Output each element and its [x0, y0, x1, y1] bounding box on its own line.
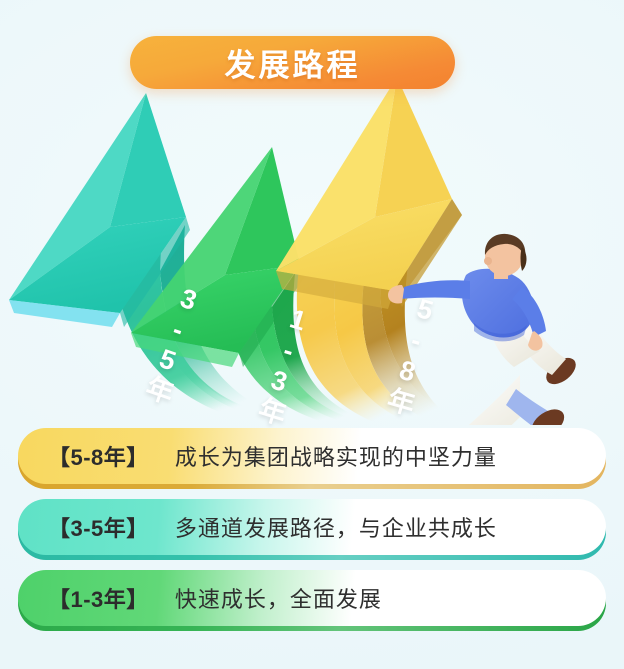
milestone-list: 【5-8年】 成长为集团战略实现的中坚力量 【3-5年】 多通道发展路径，与企业…	[0, 428, 624, 641]
milestone-row-wrap-1-3: 【1-3年】 快速成长，全面发展	[0, 570, 624, 641]
page-title: 发展路程	[225, 40, 361, 85]
milestone-badge-3-5: 【3-5年】	[18, 511, 149, 543]
milestone-badge-5-8: 【5-8年】	[18, 440, 149, 472]
milestone-badge-1-3: 【1-3年】	[18, 582, 149, 614]
milestone-desc-5-8: 成长为集团战略实现的中坚力量	[175, 440, 497, 472]
milestone-row-3-5-years[interactable]: 【3-5年】 多通道发展路径，与企业共成长	[18, 499, 606, 555]
arrows-illustration	[0, 75, 624, 425]
milestone-row-5-8-years[interactable]: 【5-8年】 成长为集团战略实现的中坚力量	[18, 428, 606, 484]
milestone-row-wrap-5-8: 【5-8年】 成长为集团战略实现的中坚力量	[0, 428, 624, 499]
milestone-desc-3-5: 多通道发展路径，与企业共成长	[175, 511, 497, 543]
milestone-desc-1-3: 快速成长，全面发展	[175, 582, 382, 614]
milestone-row-1-3-years[interactable]: 【1-3年】 快速成长，全面发展	[18, 570, 606, 626]
infographic-root: 发展路程	[0, 0, 624, 669]
milestone-row-wrap-3-5: 【3-5年】 多通道发展路径，与企业共成长	[0, 499, 624, 570]
page-title-pill: 发展路程	[130, 36, 455, 89]
arrows-stage: 3-5年 1-3年 5-8年	[0, 75, 624, 425]
